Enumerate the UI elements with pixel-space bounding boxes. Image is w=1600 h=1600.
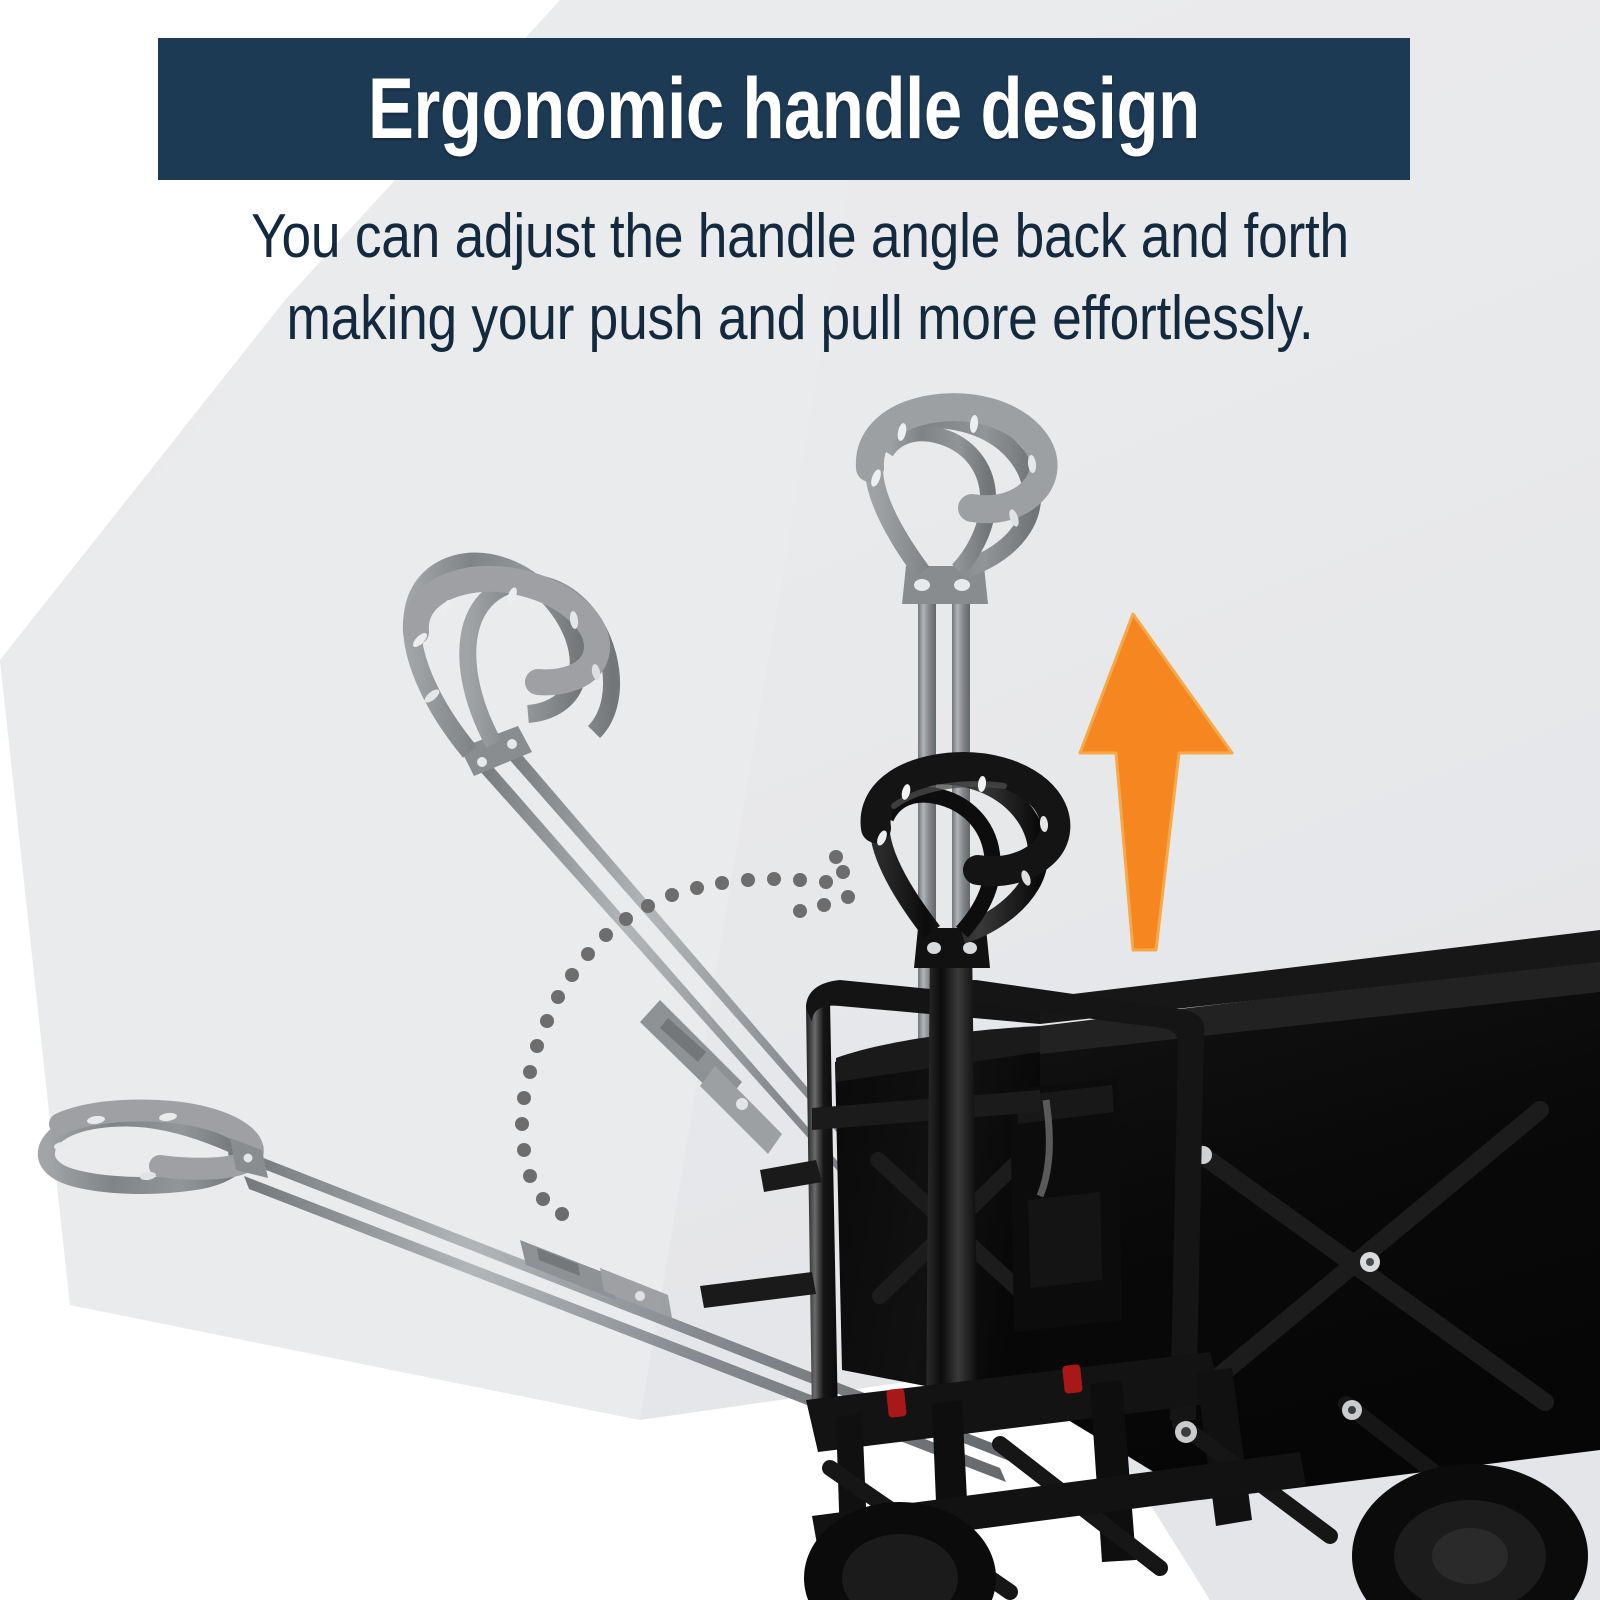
folding-undercarriage bbox=[804, 1352, 1588, 1600]
subtitle-block: You can adjust the handle angle back and… bbox=[60, 196, 1540, 360]
handle-position-low-ghost bbox=[46, 1111, 1012, 1483]
handle-position-upper-ghost bbox=[869, 407, 1043, 1155]
page-title: Ergonomic handle design bbox=[368, 66, 1200, 152]
orange-up-arrow-icon bbox=[1080, 614, 1232, 950]
dotted-arc-arrow-icon bbox=[515, 850, 855, 1221]
handle-position-current bbox=[875, 767, 1055, 1420]
subtitle-line-2: making your push and pull more effortles… bbox=[164, 278, 1437, 360]
wagon-body bbox=[700, 930, 1600, 1500]
product-feature-image: Ergonomic handle design You can adjust t… bbox=[0, 0, 1600, 1600]
subtitle-line-1: You can adjust the handle angle back and… bbox=[164, 196, 1437, 278]
handle-position-mid-ghost bbox=[411, 562, 1012, 1338]
title-banner: Ergonomic handle design bbox=[158, 38, 1410, 180]
